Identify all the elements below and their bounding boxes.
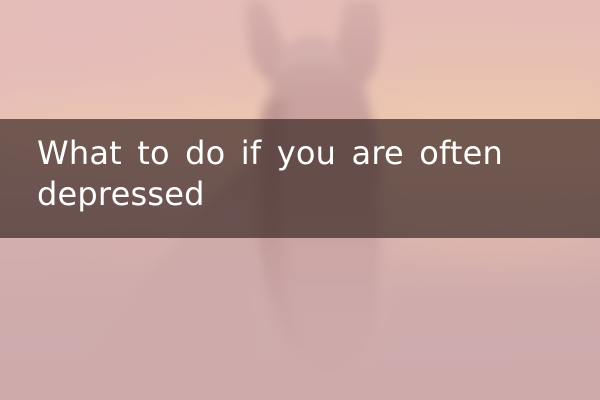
caption-title: What to do if you are often depressed [37, 133, 585, 215]
thumbnail-card: What to do if you are often depressed [0, 0, 600, 400]
caption-overlay-band: What to do if you are often depressed [0, 119, 600, 238]
